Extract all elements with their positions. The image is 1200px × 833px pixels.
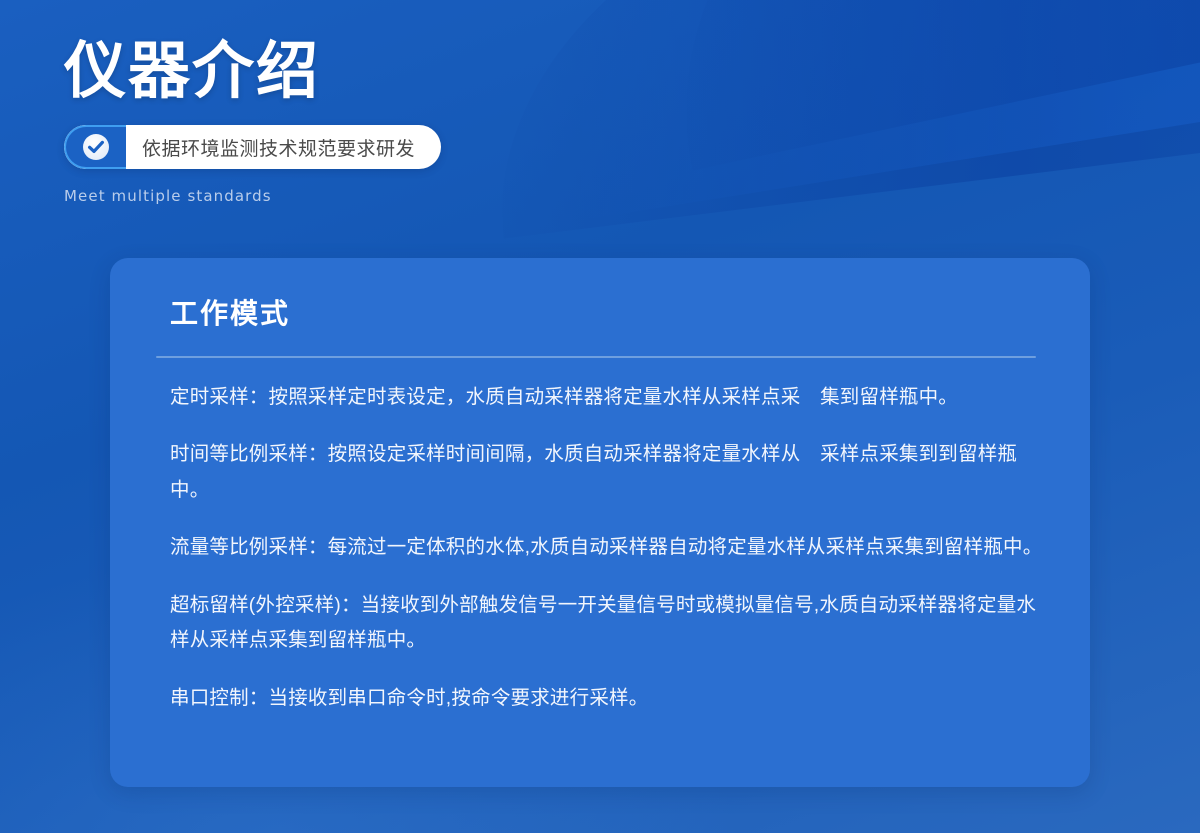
mode-paragraph: 串口控制：当接收到串口命令时,按命令要求进行采样。 [156, 681, 1044, 716]
mode-paragraph: 超标留样(外控采样)：当接收到外部触发信号一开关量信号时或模拟量信号,水质自动采… [156, 588, 1044, 659]
check-circle-icon [82, 133, 110, 161]
page-title: 仪器介绍 [64, 38, 764, 103]
standards-badge: 依据环境监测技术规范要求研发 [64, 125, 441, 169]
mode-paragraph: 定时采样：按照采样定时表设定，水质自动采样器将定量水样从采样点采 集到留样瓶中。 [156, 380, 1044, 415]
page-root: 仪器介绍 依据环境监测技术规范要求研发 Meet multiple standa… [0, 0, 1200, 833]
card-divider [156, 356, 1036, 358]
badge-label: 依据环境监测技术规范要求研发 [126, 125, 441, 169]
badge-icon-container [64, 125, 126, 169]
card-title: 工作模式 [156, 292, 1044, 332]
subtitle-english: Meet multiple standards [64, 187, 764, 205]
mode-paragraph: 时间等比例采样：按照设定采样时间间隔，水质自动采样器将定量水样从 采样点采集到到… [156, 437, 1044, 508]
page-header: 仪器介绍 依据环境监测技术规范要求研发 Meet multiple standa… [64, 38, 764, 205]
card-body: 定时采样：按照采样定时表设定，水质自动采样器将定量水样从采样点采 集到留样瓶中。… [156, 380, 1044, 716]
mode-paragraph: 流量等比例采样：每流过一定体积的水体,水质自动采样器自动将定量水样从采样点采集到… [156, 530, 1044, 565]
work-mode-card: 工作模式 定时采样：按照采样定时表设定，水质自动采样器将定量水样从采样点采 集到… [110, 258, 1090, 787]
